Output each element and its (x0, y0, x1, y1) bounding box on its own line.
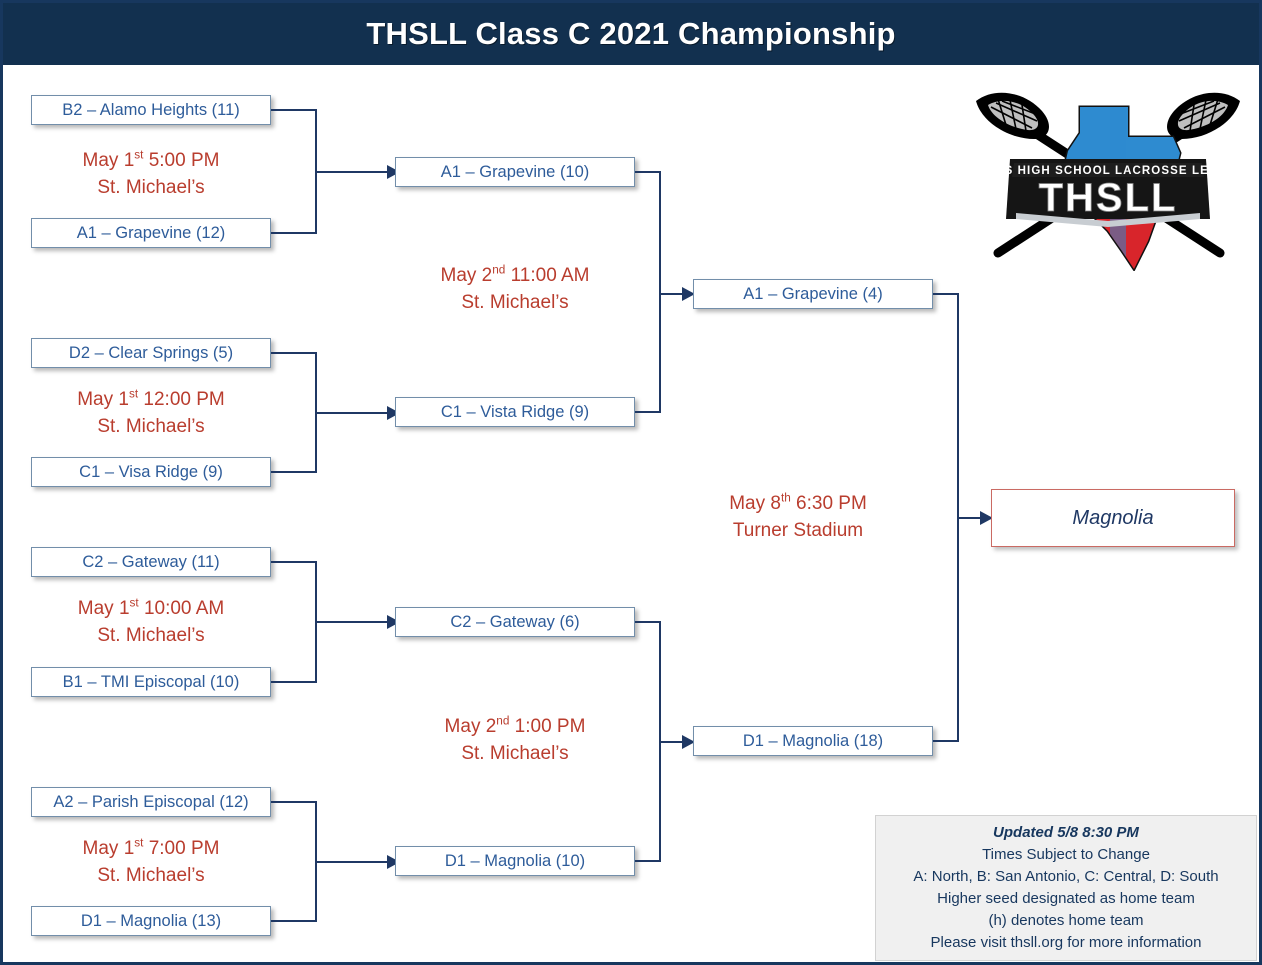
connector-r1g3-bottom (271, 681, 317, 683)
connector-final-bottom (933, 740, 959, 742)
game-label-r1g1: May 1st 5:00 PM St. Michael’s (31, 147, 271, 201)
game-label-r2g1: May 2nd 11:00 AM St. Michael’s (395, 262, 635, 316)
connector-r1g2-out (315, 412, 389, 414)
connector-r2g2-bottom (635, 860, 661, 862)
connector-r2g1-top (635, 171, 661, 173)
team-box-r2g2-top[interactable]: C2 – Gateway (6) (395, 607, 635, 637)
game-label-r1g3: May 1st 10:00 AM St. Michael’s (31, 595, 271, 649)
team-box-r1g4-bottom[interactable]: D1 – Magnolia (13) (31, 906, 271, 936)
connector-r2g1-vertical (659, 171, 661, 413)
team-box-r1g1-top[interactable]: B2 – Alamo Heights (11) (31, 95, 271, 125)
game-label-final: May 8th 6:30 PM Turner Stadium (663, 490, 933, 544)
thsll-logo: TEXAS HIGH SCHOOL LACROSSE LEAGUE THSLL (958, 81, 1258, 271)
info-note: Updated 5/8 8:30 PM Times Subject to Cha… (875, 815, 1257, 961)
connector-final-top (933, 293, 959, 295)
team-box-r1g1-bottom[interactable]: A1 – Grapevine (12) (31, 218, 271, 248)
team-box-r1g3-bottom[interactable]: B1 – TMI Episcopal (10) (31, 667, 271, 697)
team-box-r1g4-top[interactable]: A2 – Parish Episcopal (12) (31, 787, 271, 817)
team-box-r1g3-top[interactable]: C2 – Gateway (11) (31, 547, 271, 577)
game-label-r1g2: May 1st 12:00 PM St. Michael’s (31, 386, 271, 440)
connector-r1g2-top (271, 352, 317, 354)
connector-r1g3-out (315, 621, 389, 623)
game-label-r2g2: May 2nd 1:00 PM St. Michael’s (395, 713, 635, 767)
connector-r1g2-bottom (271, 471, 317, 473)
connector-r1g4-top (271, 801, 317, 803)
page-title: THSLL Class C 2021 Championship (3, 3, 1259, 65)
game-label-r1g4: May 1st 7:00 PM St. Michael’s (31, 835, 271, 889)
team-box-final-top[interactable]: A1 – Grapevine (4) (693, 279, 933, 309)
team-box-r1g2-top[interactable]: D2 – Clear Springs (5) (31, 338, 271, 368)
team-box-r2g2-bottom[interactable]: D1 – Magnolia (10) (395, 846, 635, 876)
connector-r1g1-bottom (271, 232, 317, 234)
team-box-r2g1-bottom[interactable]: C1 – Vista Ridge (9) (395, 397, 635, 427)
note-line-regions: A: North, B: San Antonio, C: Central, D:… (913, 866, 1218, 888)
team-box-r2g1-top[interactable]: A1 – Grapevine (10) (395, 157, 635, 187)
connector-r1g1-top (271, 109, 317, 111)
bracket-page: THSLL Class C 2021 Championship (0, 0, 1262, 965)
note-line-seed: Higher seed designated as home team (937, 888, 1195, 910)
note-line-times: Times Subject to Change (982, 844, 1150, 866)
connector-r1g4-bottom (271, 920, 317, 922)
connector-r1g4-out (315, 861, 389, 863)
connector-r1g3-top (271, 561, 317, 563)
connector-r1g1-out (315, 171, 389, 173)
note-line-website: Please visit thsll.org for more informat… (931, 932, 1202, 954)
note-line-home: (h) denotes home team (988, 910, 1143, 932)
note-line-updated: Updated 5/8 8:30 PM (993, 822, 1139, 844)
connector-r2g2-top (635, 621, 661, 623)
team-box-final-bottom[interactable]: D1 – Magnolia (18) (693, 726, 933, 756)
team-box-r1g2-bottom[interactable]: C1 – Visa Ridge (9) (31, 457, 271, 487)
connector-r2g1-bottom (635, 411, 661, 413)
winner-box[interactable]: Magnolia (991, 489, 1235, 547)
logo-wordmark: THSLL (1039, 176, 1178, 220)
